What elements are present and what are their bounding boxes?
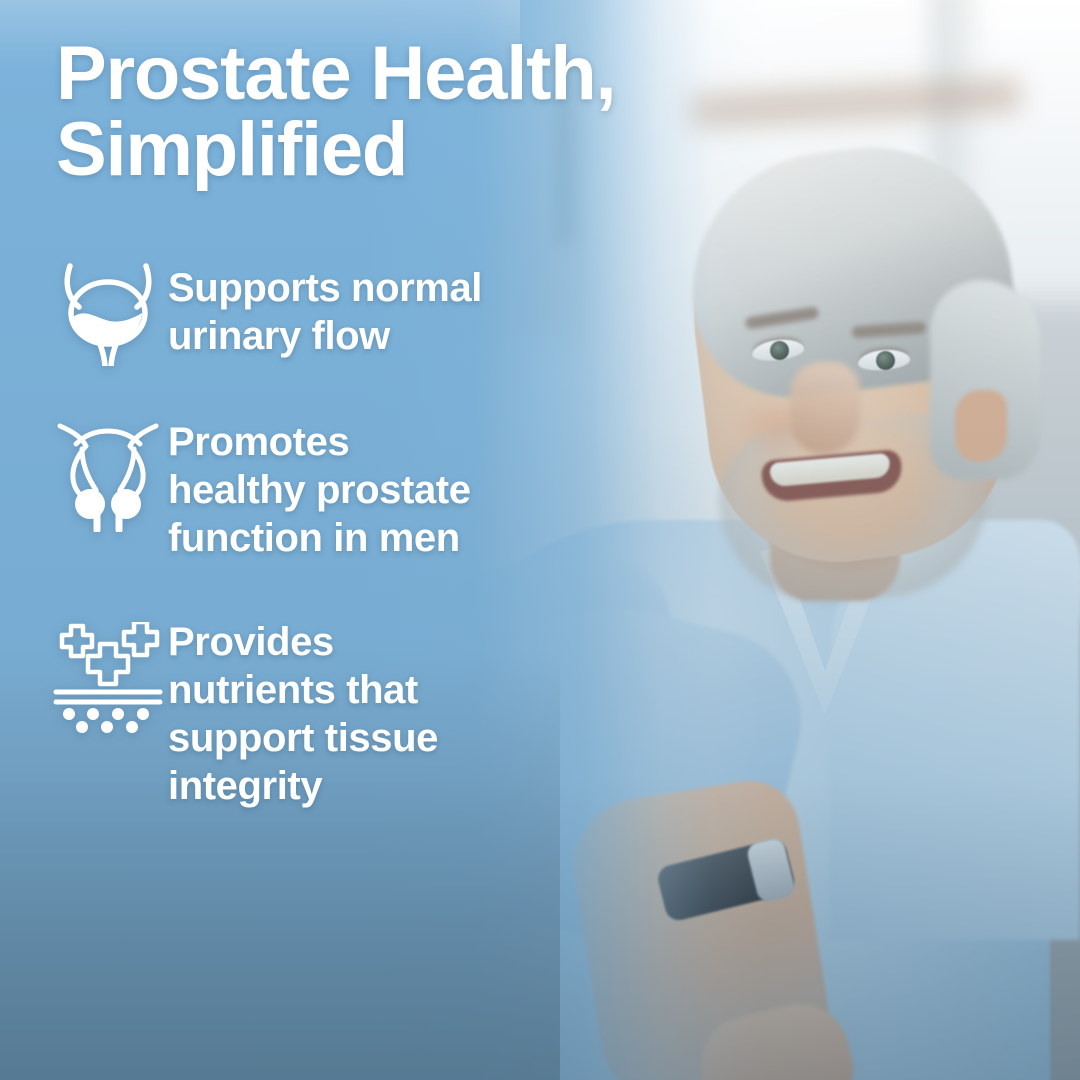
benefit-item-prostate-function: Promotes healthy prostate function in me… [48,412,471,562]
benefit-item-tissue-integrity: Provides nutrients that support tissue i… [48,618,438,810]
prostate-anatomy-icon [48,412,168,530]
benefit-item-urinary-flow: Supports normal urinary flow [48,250,482,368]
bladder-icon [48,250,168,368]
content-layer: Prostate Health, Simplified [0,0,1080,1080]
promo-banner: Prostate Health, Simplified [0,0,1080,1080]
page-title: Prostate Health, Simplified [56,36,736,188]
benefit-label: Promotes healthy prostate function in me… [168,412,471,562]
benefit-label: Supports normal urinary flow [168,250,482,360]
nutrient-absorption-icon [48,618,168,736]
benefit-label: Provides nutrients that support tissue i… [168,618,438,810]
